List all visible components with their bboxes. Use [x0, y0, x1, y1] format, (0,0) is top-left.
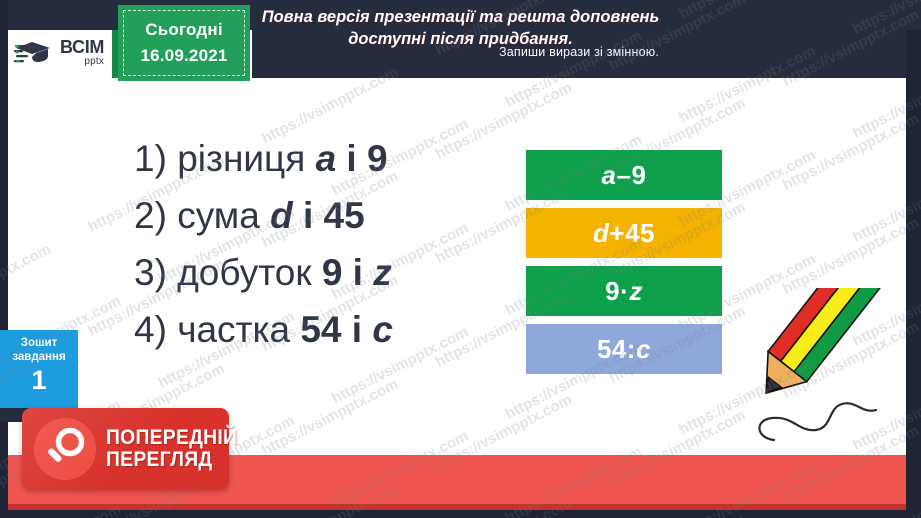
tri-color-pencil-icon: [736, 288, 911, 468]
logo-subtitle: pptx: [60, 57, 104, 67]
task-conjunction: і: [293, 195, 324, 236]
bottom-promo-line1: Повна версія презентації та решта доповн…: [0, 6, 921, 28]
answer-left-operand: 9: [605, 276, 620, 307]
task-operand-1: 9: [322, 252, 343, 293]
preview-overlay-label: ПОПЕРЕДНІЙ ПЕРЕГЛЯД: [106, 427, 249, 471]
answer-left-operand: 54: [597, 334, 627, 365]
answer-box: a – 9: [526, 150, 722, 200]
answer-box: 54 : c: [526, 324, 722, 374]
task-operand-2: c: [372, 309, 393, 350]
task-conjunction: і: [336, 138, 367, 179]
task-operation-word: різниця: [177, 138, 315, 179]
preview-overlay-line1: ПОПЕРЕДНІЙ: [106, 427, 237, 449]
notebook-badge-line2: завдання: [0, 350, 78, 364]
task-operation-word: добуток: [177, 252, 322, 293]
answer-right-operand: z: [629, 276, 643, 307]
task-conjunction: і: [342, 252, 373, 293]
task-operand-2: z: [373, 252, 392, 293]
bottom-promo-line2: доступні після придбання.: [0, 28, 921, 50]
bottom-banner-accent-strip: [8, 504, 906, 510]
answer-box: d + 45: [526, 208, 722, 258]
answer-right-operand: c: [636, 334, 651, 365]
task-number: 2): [134, 195, 177, 236]
answer-left-operand: d: [593, 218, 609, 249]
answer-operator: ·: [620, 276, 629, 307]
task-operand-1: a: [316, 138, 337, 179]
answer-right-operand: 45: [625, 218, 655, 249]
task-operation-word: частка: [177, 309, 300, 350]
task-operand-2: 9: [367, 138, 388, 179]
task-number: 4): [134, 309, 177, 350]
magnifier-icon: [34, 418, 96, 480]
answer-box: 9 · z: [526, 266, 722, 316]
presentation-slide: Запиши вирази зі змінною.: [0, 0, 921, 518]
task-item: 4) частка 54 і c: [134, 311, 393, 348]
answer-operator: –: [617, 160, 632, 191]
task-item: 3) добуток 9 і z: [134, 254, 393, 291]
task-operand-1: 54: [300, 309, 341, 350]
answer-box-stack: a – 9d + 459 · z54 : c: [526, 150, 722, 382]
task-item: 2) сума d і 45: [134, 197, 393, 234]
task-number: 1): [134, 138, 177, 179]
answer-operator: +: [609, 218, 625, 249]
task-list: 1) різниця a і 92) сума d і 453) добуток…: [134, 140, 393, 368]
notebook-task-badge: Зошит завдання 1: [0, 330, 78, 408]
answer-right-operand: 9: [631, 160, 646, 191]
task-item: 1) різниця a і 9: [134, 140, 393, 177]
answer-left-operand: a: [602, 160, 617, 191]
notebook-badge-number: 1: [0, 367, 78, 394]
task-operand-2: 45: [324, 195, 365, 236]
preview-overlay-line2: ПЕРЕГЛЯД: [106, 449, 237, 471]
task-conjunction: і: [342, 309, 373, 350]
task-operation-word: сума: [177, 195, 270, 236]
task-operand-1: d: [270, 195, 293, 236]
task-number: 3): [134, 252, 177, 293]
bottom-promo-text: Повна версія презентації та решта доповн…: [0, 6, 921, 51]
notebook-badge-line1: Зошит: [0, 336, 78, 350]
answer-operator: :: [627, 334, 636, 365]
preview-overlay-button[interactable]: ПОПЕРЕДНІЙ ПЕРЕГЛЯД: [22, 408, 229, 490]
